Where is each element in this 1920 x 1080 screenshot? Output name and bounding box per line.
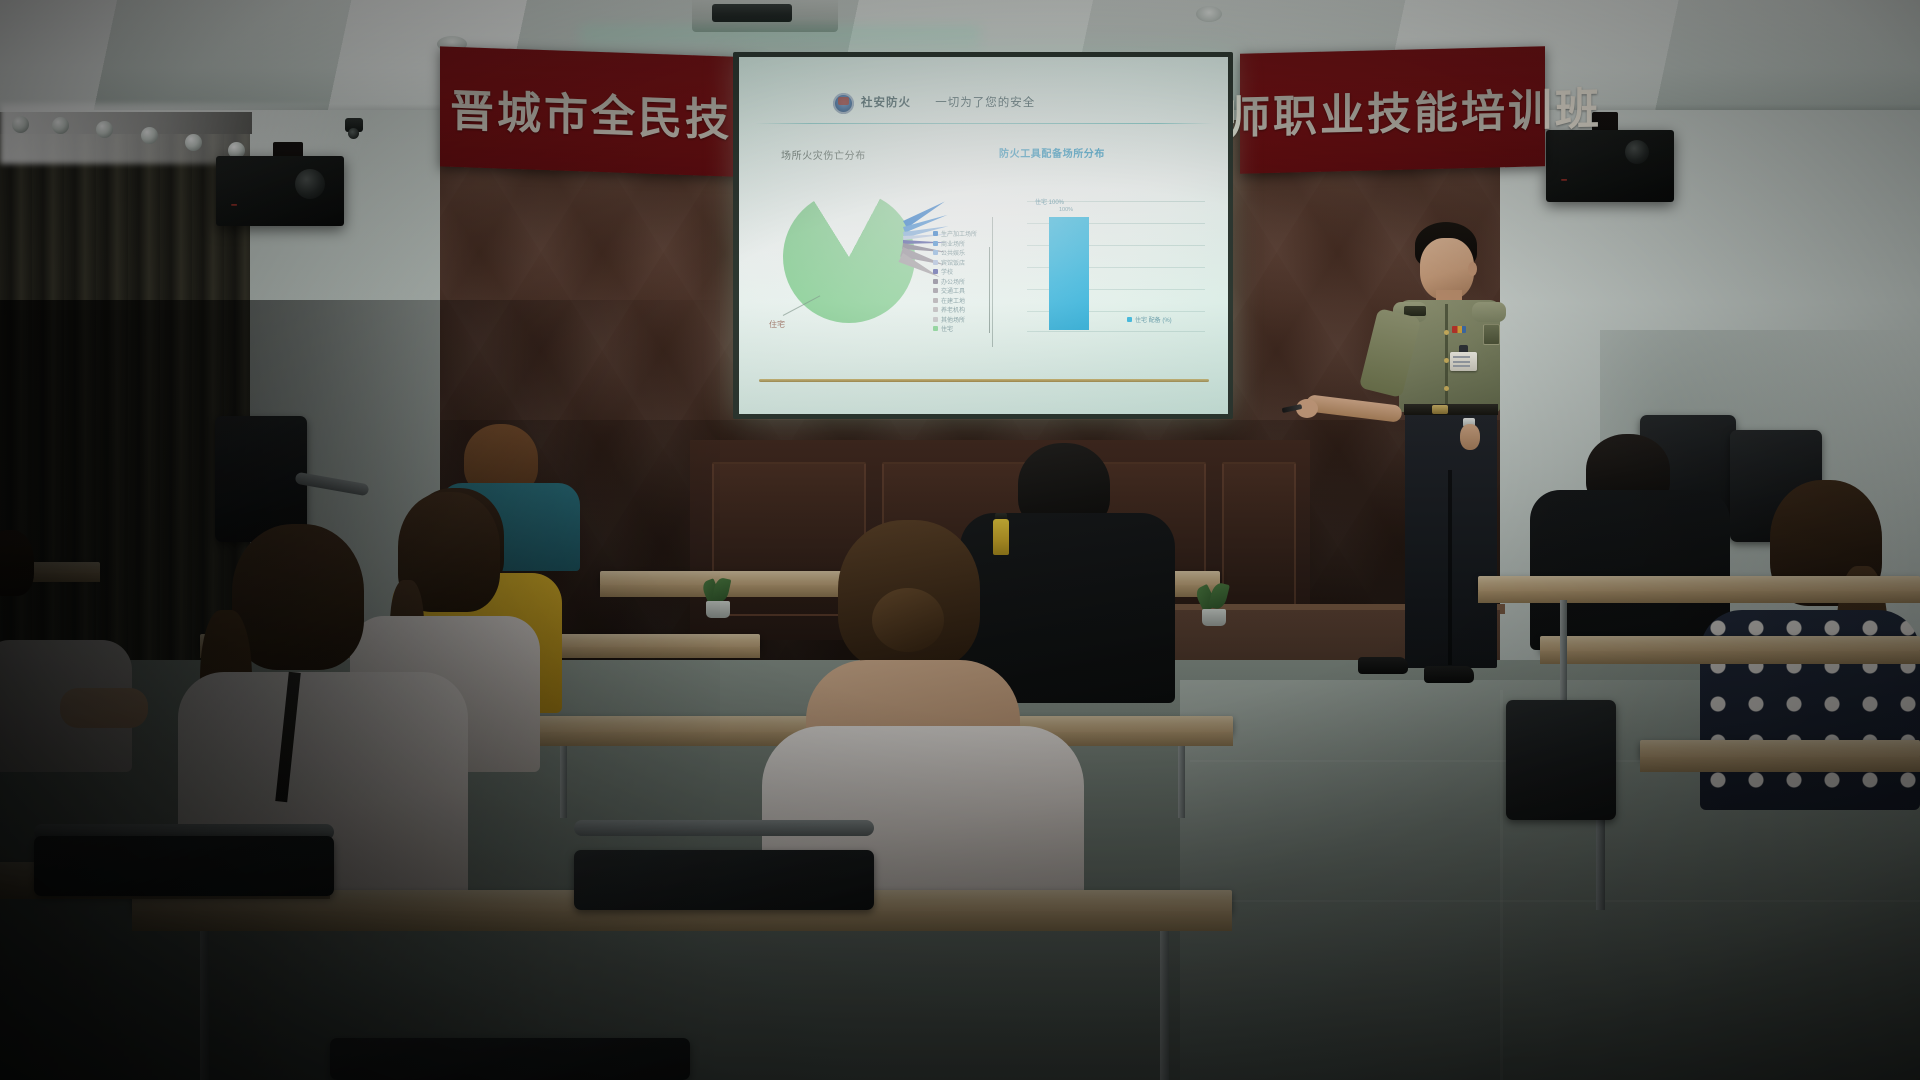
training-room-photo: ━ ━ 晋城市全民技能提升 师职业技能培训班 社安防火 一切为了您的安全 场所火… [0, 0, 1920, 1080]
classroom-desk-apron [1640, 757, 1920, 772]
pie-legend-label: 公共娱乐 [941, 248, 965, 257]
instructor-shirt-button [1444, 358, 1449, 363]
bar-column [1049, 217, 1089, 330]
banner-right: 师职业技能培训班 [1240, 46, 1545, 173]
instructor-belt [1404, 404, 1498, 415]
bar-chart: 住宅 100% 100% 住宅 配备 (%) [1001, 165, 1211, 347]
window-curtain [0, 118, 250, 678]
pie-legend-label: 住宅 [941, 324, 953, 333]
instructor-shirt-button [1444, 386, 1449, 391]
instructor-shoe [1424, 666, 1474, 683]
banner-shading [1240, 46, 1545, 173]
banner-shading [440, 46, 760, 177]
bar-legend-label: 住宅 配备 (%) [1135, 315, 1172, 324]
chair-armrest [574, 820, 874, 836]
bar-data-label: 住宅 100% [1035, 197, 1064, 206]
slide-brand-header: 社安防火 一切为了您的安全 [861, 94, 1035, 110]
pie-legend-item: 交通工具 [933, 286, 977, 296]
desk-leg [1178, 746, 1185, 818]
potted-plant [700, 580, 738, 618]
pie-legend-swatch [933, 317, 938, 322]
instructor-shoulder-patch [1483, 324, 1500, 345]
slide-header-rule [755, 123, 1213, 124]
pie-chart: 住宅 生产加工场所商业场所公共娱乐宾馆饭店学校办公场所交通工具在建工地养老机构其… [777, 169, 957, 344]
pie-callout-label: 住宅 [769, 319, 785, 330]
instructor-trouser-seam [1448, 470, 1452, 665]
wall-speaker-left: ━ [216, 156, 344, 226]
speaker-cone [295, 169, 325, 199]
pie-legend-swatch [933, 260, 938, 265]
pie-legend-item: 养老机构 [933, 305, 977, 315]
pie-legend-item: 其他场所 [933, 315, 977, 325]
pie-legend-item: 公共娱乐 [933, 248, 977, 258]
pie-legend-swatch [933, 269, 938, 274]
classroom-desk [1478, 576, 1920, 592]
bar-chart-title: 防火工具配备场所分布 [999, 145, 1105, 160]
pie-legend-label: 其他场所 [941, 315, 965, 324]
shield-badge-icon [833, 93, 854, 114]
audience-hair-bun [872, 588, 944, 652]
slide-footer-rule [759, 379, 1209, 382]
pie-legend-label: 商业场所 [941, 239, 965, 248]
potted-plant [1196, 586, 1234, 626]
pie-legend-swatch [933, 307, 938, 312]
pie-legend-swatch [933, 288, 938, 293]
pie-legend-swatch [933, 298, 938, 303]
slide-brand-tagline: 一切为了您的安全 [935, 97, 1035, 109]
pie-legend-label: 在建工地 [941, 296, 965, 305]
instructor-flag-badge [1452, 326, 1466, 333]
pie-legend-swatch [933, 241, 938, 246]
classroom-desk-apron [132, 911, 1232, 931]
slide-column-divider [992, 217, 993, 347]
banner-left: 晋城市全民技能提升 [440, 46, 760, 177]
pie-legend-swatch [933, 250, 938, 255]
pie-legend-item: 在建工地 [933, 296, 977, 306]
bar-legend-swatch [1127, 317, 1132, 322]
pie-legend-item: 学校 [933, 267, 977, 277]
instructor-shoulder-right [1472, 302, 1506, 322]
bar-gridline [1027, 331, 1205, 332]
pie-legend-label: 宾馆饭店 [941, 258, 965, 267]
speaker-brand-text: ━ [231, 200, 237, 211]
projection-screen: 社安防火 一切为了您的安全 场所火灾伤亡分布 防火工具配备场所分布 住宅 [739, 57, 1228, 414]
office-chair [574, 850, 874, 910]
bar-chart-legend: 住宅 配备 (%) [1127, 315, 1172, 324]
wall-speaker-right: ━ [1546, 130, 1674, 202]
floor-tile-seam [1500, 690, 1503, 1080]
audience-arm [60, 688, 148, 728]
pie-legend-item: 办公场所 [933, 277, 977, 287]
instructor-ear [1468, 262, 1477, 276]
security-camera-lens [348, 128, 359, 139]
pie-chart-title: 场所火灾伤亡分布 [781, 147, 866, 162]
instructor-shoe [1358, 657, 1408, 674]
pie-legend-item: 宾馆饭店 [933, 258, 977, 268]
speaker-brand-text: ━ [1561, 175, 1567, 186]
desk-leg [560, 746, 567, 818]
pie-legend-label: 学校 [941, 267, 953, 276]
curtain-ring [141, 127, 158, 144]
pie-legend-label: 交通工具 [941, 286, 965, 295]
classroom-desk-apron [1478, 591, 1920, 603]
pie-legend-swatch [933, 326, 938, 331]
desk-leg [200, 931, 209, 1080]
curtain-ring [52, 117, 69, 134]
instructor-id-card [1450, 352, 1477, 371]
pie-legend-label: 生产加工场所 [941, 229, 977, 238]
curtain-ring [96, 121, 113, 138]
instructor-shirt-button [1444, 330, 1449, 335]
audience-hair [232, 524, 364, 670]
slide-brand-name: 社安防火 [861, 97, 911, 109]
presentation-slide: 社安防火 一切为了您的安全 场所火灾伤亡分布 防火工具配备场所分布 住宅 [739, 57, 1228, 414]
pie-chart-legend: 生产加工场所商业场所公共娱乐宾馆饭店学校办公场所交通工具在建工地养老机构其他场所… [933, 229, 977, 334]
pie-legend-item: 生产加工场所 [933, 229, 977, 239]
classroom-desk [1640, 740, 1920, 758]
desk-leg [1160, 931, 1169, 1080]
plant-pot [706, 601, 730, 618]
pie-legend-swatch [933, 231, 938, 236]
curtain-ring [12, 116, 29, 133]
ceiling-light-recess [1196, 6, 1222, 22]
office-chair [330, 1038, 690, 1080]
floor-tile-seam [1220, 900, 1920, 902]
pie-legend-item: 商业场所 [933, 239, 977, 249]
water-bottle [993, 519, 1009, 555]
pie-legend-label: 办公场所 [941, 277, 965, 286]
plant-leaf [1208, 581, 1230, 610]
instructor-resting-hand [1460, 424, 1480, 450]
curtain-ring [185, 134, 202, 151]
projector-lens [712, 4, 792, 22]
office-chair [1506, 700, 1616, 820]
office-chair [34, 836, 334, 896]
instructor-shirt-placket [1445, 304, 1448, 408]
classroom-desk-apron [1540, 651, 1920, 664]
classroom-desk [1540, 636, 1920, 652]
pie-legend-swatch [933, 279, 938, 284]
pie-legend-item: 住宅 [933, 324, 977, 334]
bar-data-sublabel: 100% [1059, 207, 1073, 213]
pie-legend-label: 养老机构 [941, 305, 965, 314]
instructor-belt-buckle [1432, 405, 1448, 414]
plant-pot [1202, 609, 1226, 626]
speaker-cone [1625, 140, 1649, 164]
bar-chart-axis [989, 247, 990, 333]
